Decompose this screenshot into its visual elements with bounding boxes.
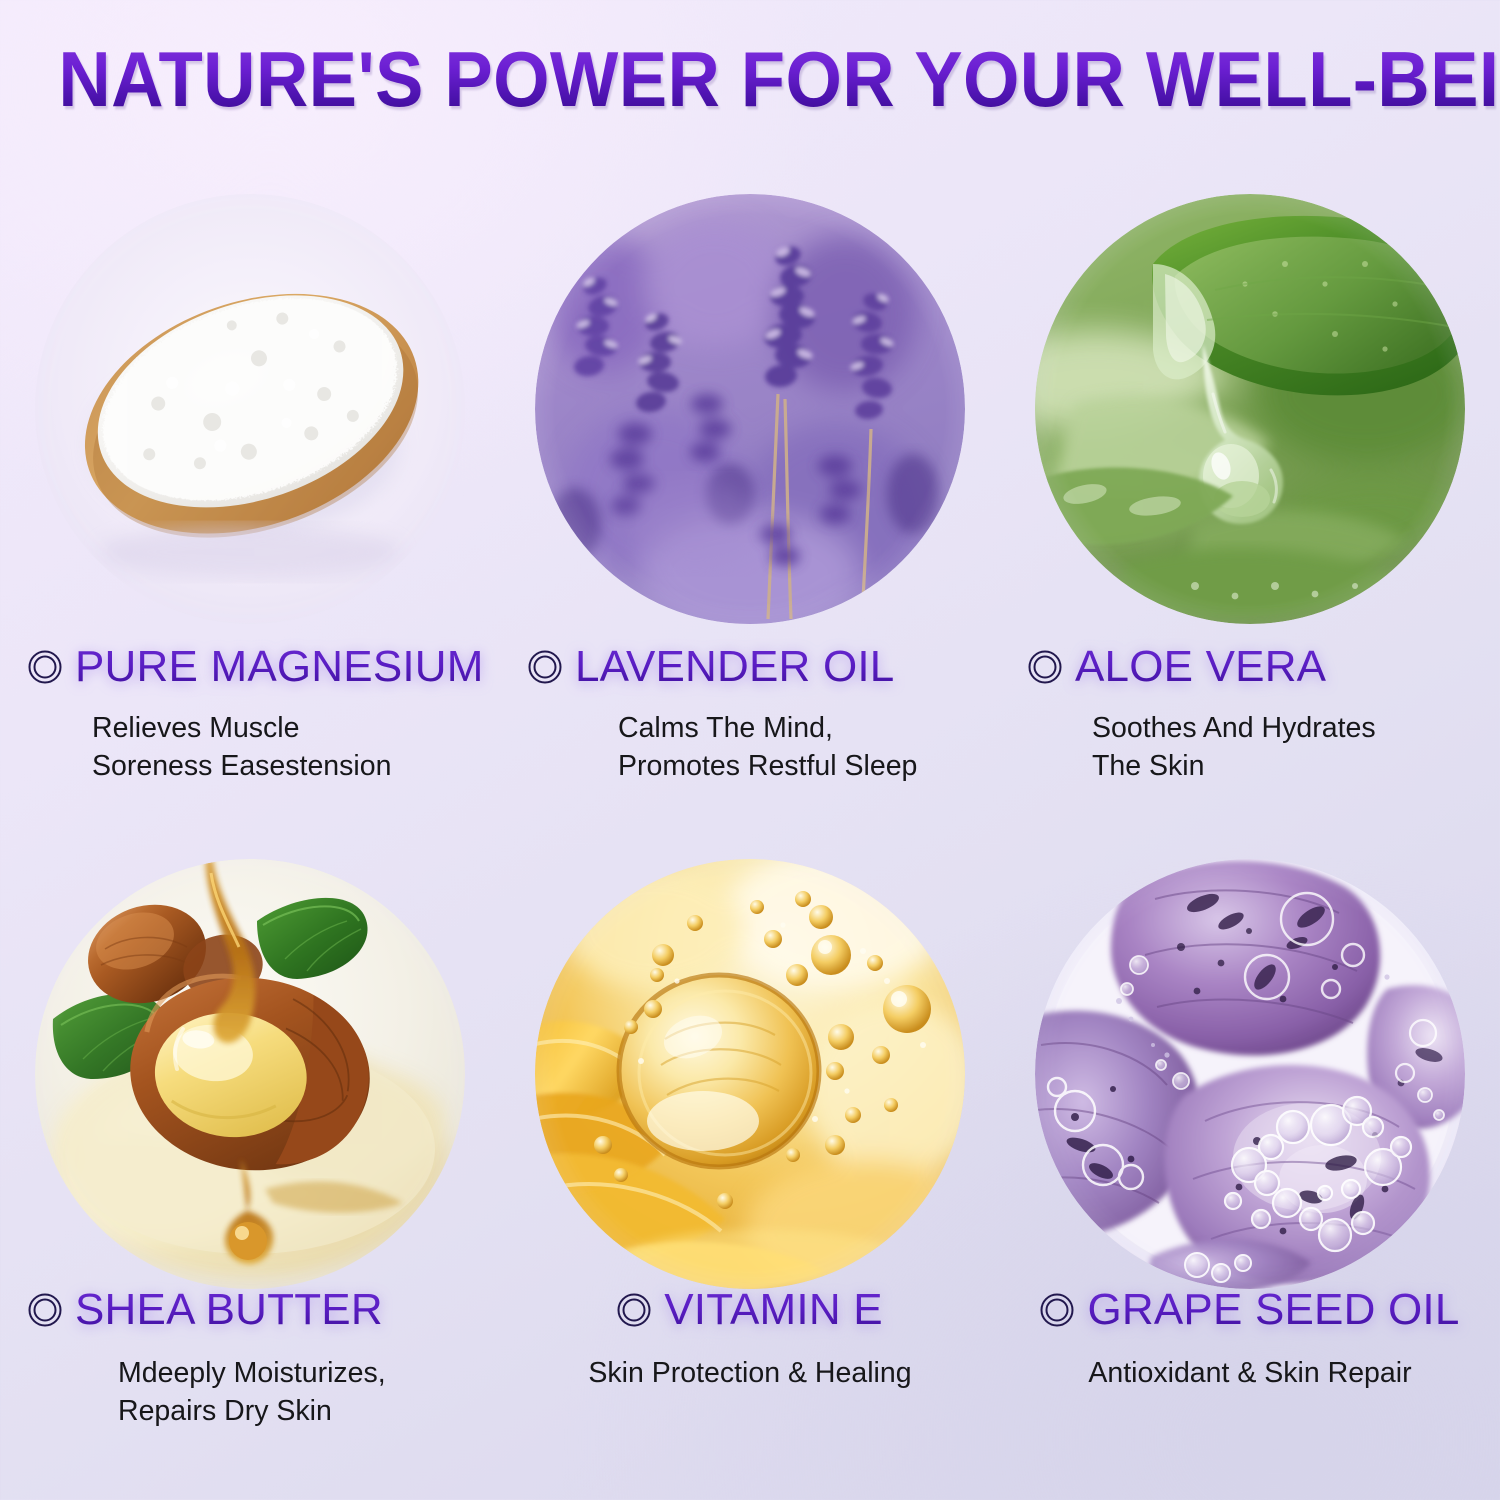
desc-line: Soothes And Hydrates	[1092, 710, 1500, 748]
ingredient-card-lavender-oil: LAVENDER OIL Calms The Mind, Promotes Re…	[500, 150, 1000, 815]
desc-line: Promotes Restful Sleep	[618, 748, 1000, 786]
desc-line: The Skin	[1092, 748, 1500, 786]
ingredient-name: PURE MAGNESIUM	[75, 642, 484, 692]
ingredient-label-shea-butter: SHEA BUTTER	[0, 1285, 500, 1335]
double-circle-icon	[1028, 650, 1062, 684]
ingredient-label-lavender-oil: LAVENDER OIL	[500, 642, 1000, 692]
ingredient-label-aloe-vera: ALOE VERA	[1000, 642, 1500, 692]
double-circle-icon	[1040, 1293, 1074, 1327]
desc-line: Antioxidant & Skin Repair	[1000, 1355, 1500, 1393]
ingredient-card-vitamin-e: VITAMIN E Skin Protection & Healing	[500, 815, 1000, 1480]
lavender-field-flowers-photo	[535, 194, 965, 624]
desc-line: Skin Protection & Healing	[500, 1355, 1000, 1393]
desc-line: Soreness Easestension	[92, 748, 500, 786]
desc-line: Relieves Muscle	[92, 710, 500, 748]
grape-seed-purple-macro-photo	[1035, 859, 1465, 1289]
ingredient-name: ALOE VERA	[1075, 642, 1326, 692]
ingredient-grid: PURE MAGNESIUM Relieves Muscle Soreness …	[0, 150, 1500, 1480]
ingredient-row-2: SHEA BUTTER Mdeeply Moisturizes, Repairs…	[0, 815, 1500, 1480]
magnesium-salt-wooden-spoon-photo	[35, 194, 465, 624]
ingredient-description-grape-seed-oil: Antioxidant & Skin Repair	[1000, 1355, 1500, 1393]
ingredient-name: GRAPE SEED OIL	[1087, 1285, 1459, 1335]
desc-line: Mdeeply Moisturizes,	[118, 1355, 500, 1393]
ingredient-name: SHEA BUTTER	[75, 1285, 383, 1335]
ingredient-description-lavender-oil: Calms The Mind, Promotes Restful Sleep	[500, 710, 1000, 785]
shea-nut-butter-oil-photo	[35, 859, 465, 1289]
ingredient-card-pure-magnesium: PURE MAGNESIUM Relieves Muscle Soreness …	[0, 150, 500, 815]
desc-line: Calms The Mind,	[618, 710, 1000, 748]
ingredient-card-aloe-vera: ALOE VERA Soothes And Hydrates The Skin	[1000, 150, 1500, 815]
ingredient-description-shea-butter: Mdeeply Moisturizes, Repairs Dry Skin	[0, 1355, 500, 1430]
ingredient-label-pure-magnesium: PURE MAGNESIUM	[0, 642, 500, 692]
aloe-vera-leaf-gel-drop-photo	[1035, 194, 1465, 624]
ingredient-name: VITAMIN E	[664, 1285, 883, 1335]
ingredient-card-shea-butter: SHEA BUTTER Mdeeply Moisturizes, Repairs…	[0, 815, 500, 1480]
double-circle-icon	[28, 1293, 62, 1327]
ingredient-benefits-infographic: NATURE'S POWER FOR YOUR WELL-BEING	[0, 0, 1500, 1500]
ingredient-card-grape-seed-oil: GRAPE SEED OIL Antioxidant & Skin Repair	[1000, 815, 1500, 1480]
page-title: NATURE'S POWER FOR YOUR WELL-BEING	[58, 34, 1500, 125]
ingredient-description-pure-magnesium: Relieves Muscle Soreness Easestension	[0, 710, 500, 785]
ingredient-description-vitamin-e: Skin Protection & Healing	[500, 1355, 1000, 1393]
double-circle-icon	[528, 650, 562, 684]
desc-line: Repairs Dry Skin	[118, 1393, 500, 1431]
ingredient-name: LAVENDER OIL	[575, 642, 894, 692]
ingredient-row-1: PURE MAGNESIUM Relieves Muscle Soreness …	[0, 150, 1500, 815]
page-title-wrapper: NATURE'S POWER FOR YOUR WELL-BEING	[0, 34, 1500, 125]
double-circle-icon	[28, 650, 62, 684]
ingredient-description-aloe-vera: Soothes And Hydrates The Skin	[1000, 710, 1500, 785]
ingredient-label-grape-seed-oil: GRAPE SEED OIL	[1000, 1285, 1500, 1335]
ingredient-label-vitamin-e: VITAMIN E	[500, 1285, 1000, 1335]
golden-oil-bubbles-macro-photo	[535, 859, 965, 1289]
double-circle-icon	[617, 1293, 651, 1327]
